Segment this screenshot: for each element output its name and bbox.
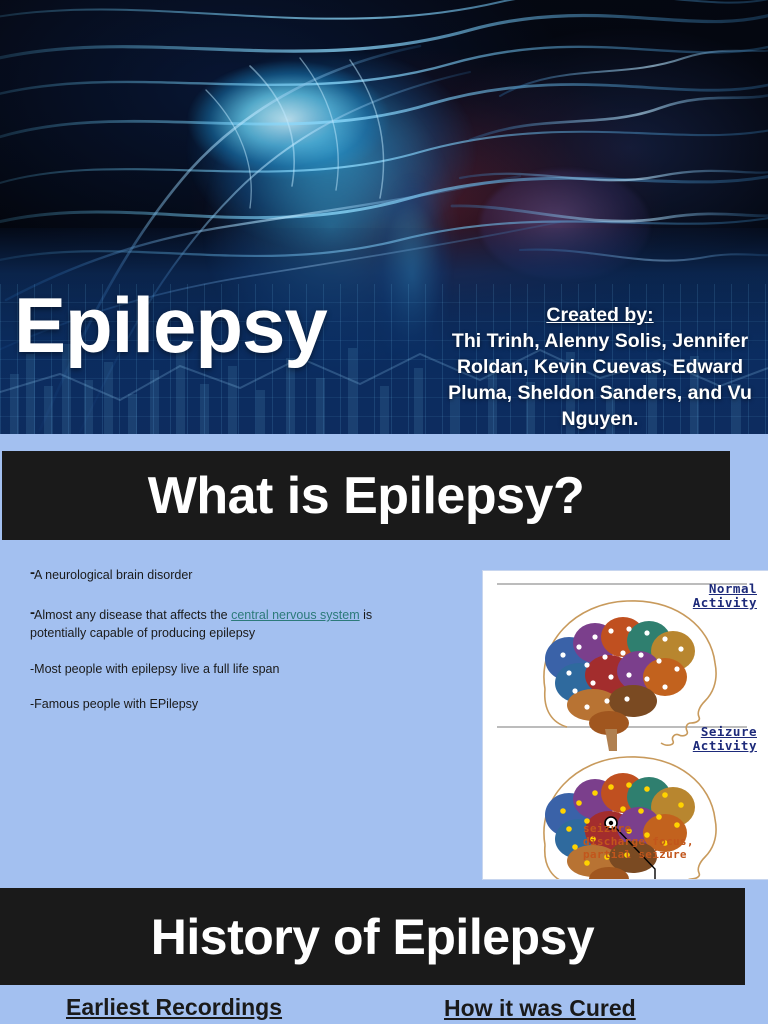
- presentation-document: 01010110 Epilepsy Created by: Thi Trinh,…: [0, 0, 768, 1024]
- list-item: -Almost any disease that affects the cen…: [30, 602, 430, 642]
- figure-note-seizure-focus: seizure discharge focus, partial seizure: [583, 823, 694, 862]
- credits-line: Nguyen.: [400, 407, 768, 433]
- slide-history-of-epilepsy: History of Epilepsy Earliest Recordings …: [0, 884, 768, 1024]
- caption-line: Activity: [693, 595, 757, 610]
- section-header-what-is: What is Epilepsy?: [2, 451, 730, 540]
- credits-block: Created by: Thi Trinh, Alenny Solis, Jen…: [400, 303, 768, 433]
- page-title: Epilepsy: [14, 288, 434, 363]
- subheading-how-it-was-cured: How it was Cured: [444, 995, 636, 1022]
- list-item-text: Famous people with EPilepsy: [34, 697, 198, 711]
- slide-title: 01010110 Epilepsy Created by: Thi Trinh,…: [0, 0, 768, 434]
- figure-caption-seizure: Seizure Activity: [693, 725, 757, 752]
- slide-what-is-epilepsy: What is Epilepsy? -A neurological brain …: [0, 434, 768, 874]
- section-title: What is Epilepsy?: [148, 466, 584, 526]
- list-item: -Famous people with EPilepsy: [30, 695, 430, 713]
- caption-line: Activity: [693, 738, 757, 753]
- hero-brain-image: 01010110 Epilepsy Created by: Thi Trinh,…: [0, 0, 768, 434]
- list-item-text: Most people with epilepsy live a full li…: [34, 662, 279, 676]
- credits-line: Pluma, Sheldon Sanders, and Vu: [400, 381, 768, 407]
- list-item: -Most people with epilepsy live a full l…: [30, 660, 430, 678]
- brain-activity-figure: Normal Activity Seizure Activity seizure…: [482, 570, 768, 880]
- note-line: partial seizure: [583, 848, 687, 861]
- credits-line: Roldan, Kevin Cuevas, Edward: [400, 355, 768, 381]
- bullet-list: -A neurological brain disorder -Almost a…: [30, 562, 430, 729]
- central-nervous-system-link[interactable]: central nervous system: [231, 608, 360, 622]
- history-subheading-row: Earliest Recordings How it was Cured: [0, 994, 768, 1024]
- subheading-earliest-recordings: Earliest Recordings: [66, 994, 282, 1021]
- credits-line: Thi Trinh, Alenny Solis, Jennifer: [400, 329, 768, 355]
- list-item: -A neurological brain disorder: [30, 562, 430, 584]
- note-line: seizure: [583, 822, 631, 835]
- list-item-text: A neurological brain disorder: [34, 568, 192, 582]
- section-header-history: History of Epilepsy: [0, 888, 745, 985]
- credits-label: Created by:: [400, 303, 768, 329]
- note-line: discharge focus,: [583, 835, 694, 848]
- section-title: History of Epilepsy: [151, 908, 594, 966]
- figure-caption-normal: Normal Activity: [693, 582, 757, 609]
- list-item-text-before: Almost any disease that affects the: [34, 608, 231, 622]
